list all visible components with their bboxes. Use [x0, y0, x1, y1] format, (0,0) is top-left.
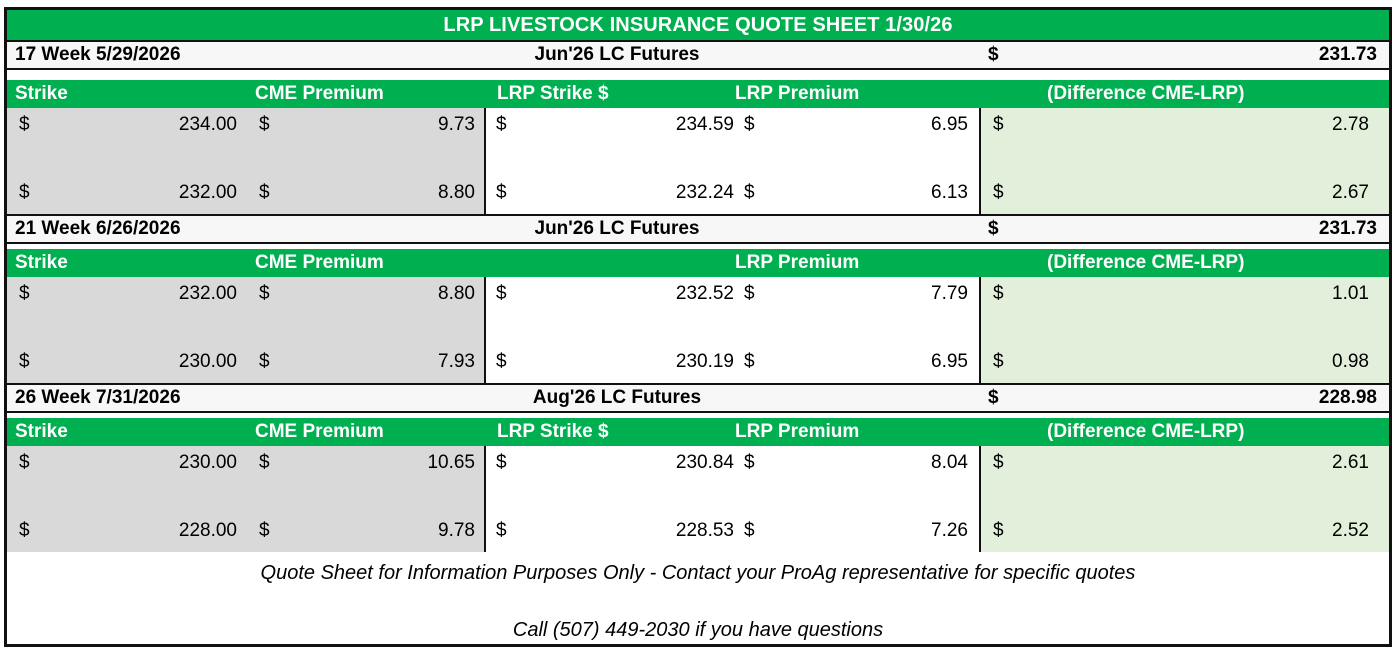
strike-value: 230.00 — [97, 448, 237, 478]
cme-premium-value: 9.73 — [337, 110, 475, 140]
lrp-premium-value: 7.26 — [816, 516, 968, 546]
difference-value: 1.01 — [1131, 279, 1369, 309]
lrp-premium-value: 8.04 — [816, 448, 968, 478]
cme-premium-currency-symbol: $ — [259, 178, 270, 208]
section-info-row: 21 Week 6/26/2026 Jun'26 LC Futures $ 23… — [7, 214, 1389, 244]
section-futures-price: 231.73 — [1319, 44, 1377, 66]
section-term: 26 Week 7/31/2026 — [15, 387, 181, 409]
lrp-strike-currency-symbol: $ — [496, 110, 507, 140]
difference-value: 2.52 — [1131, 516, 1369, 546]
table-row: $ 228.00 $ 9.78 — [7, 516, 484, 550]
table-row: $ 2.61 — [981, 448, 1389, 482]
cme-premium-currency-symbol: $ — [259, 110, 270, 140]
difference-column-group: $ 2.78 $ 2.67 — [981, 108, 1389, 214]
footer-contact: Call (507) 449-2030 if you have question… — [7, 619, 1389, 642]
column-header-lrp-premium: LRP Premium — [735, 421, 859, 443]
strike-currency-symbol: $ — [19, 110, 30, 140]
table-row: $ 234.00 $ 9.73 — [7, 110, 484, 144]
column-header-row: Strike CME Premium LRP Premium (Differen… — [7, 249, 1389, 277]
quote-sheet: LRP LIVESTOCK INSURANCE QUOTE SHEET 1/30… — [0, 0, 1400, 651]
page-title: LRP LIVESTOCK INSURANCE QUOTE SHEET 1/30… — [443, 14, 952, 37]
section-futures-price: 228.98 — [1319, 387, 1377, 409]
table-row: $ 0.98 — [981, 347, 1389, 381]
footer-disclaimer: Quote Sheet for Information Purposes Onl… — [7, 562, 1389, 585]
column-header-strike: Strike — [15, 421, 68, 443]
section-data-block: $ 232.00 $ 8.80 $ 230.00 $ 7.93 $ 232.52… — [7, 277, 1389, 383]
difference-currency-symbol: $ — [993, 516, 1004, 546]
table-row: $ 230.00 $ 7.93 — [7, 347, 484, 381]
lrp-strike-value: 232.52 — [574, 279, 734, 309]
difference-value: 2.78 — [1131, 110, 1369, 140]
table-row: $ 228.53 $ 7.26 — [486, 516, 979, 550]
section-futures-price: 231.73 — [1319, 218, 1377, 240]
cme-column-group: $ 230.00 $ 10.65 $ 228.00 $ 9.78 — [7, 446, 486, 552]
lrp-column-group: $ 234.59 $ 6.95 $ 232.24 $ 6.13 — [486, 108, 981, 214]
difference-currency-symbol: $ — [993, 347, 1004, 377]
lrp-strike-currency-symbol: $ — [496, 347, 507, 377]
cme-premium-currency-symbol: $ — [259, 448, 270, 478]
lrp-strike-value: 230.19 — [574, 347, 734, 377]
lrp-premium-currency-symbol: $ — [744, 110, 755, 140]
lrp-strike-currency-symbol: $ — [496, 448, 507, 478]
table-row: $ 232.52 $ 7.79 — [486, 279, 979, 313]
cme-premium-currency-symbol: $ — [259, 347, 270, 377]
lrp-premium-value: 6.13 — [816, 178, 968, 208]
strike-currency-symbol: $ — [19, 516, 30, 546]
column-header-row: Strike CME Premium LRP Strike $ LRP Prem… — [7, 80, 1389, 108]
section-futures-label: Aug'26 LC Futures — [407, 387, 827, 409]
cme-premium-currency-symbol: $ — [259, 516, 270, 546]
strike-value: 228.00 — [97, 516, 237, 546]
column-header-difference: (Difference CME-LRP) — [1047, 83, 1244, 105]
difference-value: 2.67 — [1131, 178, 1369, 208]
lrp-strike-currency-symbol: $ — [496, 279, 507, 309]
currency-symbol: $ — [988, 44, 999, 66]
strike-currency-symbol: $ — [19, 347, 30, 377]
frame-border-bottom — [4, 644, 1392, 647]
column-header-cme-premium: CME Premium — [255, 421, 384, 443]
section-info-row: 17 Week 5/29/2026 Jun'26 LC Futures $ 23… — [7, 40, 1389, 70]
lrp-strike-currency-symbol: $ — [496, 516, 507, 546]
table-row: $ 230.19 $ 6.95 — [486, 347, 979, 381]
cme-premium-value: 7.93 — [337, 347, 475, 377]
lrp-strike-currency-symbol: $ — [496, 178, 507, 208]
lrp-strike-value: 230.84 — [574, 448, 734, 478]
column-header-cme-premium: CME Premium — [255, 83, 384, 105]
lrp-premium-currency-symbol: $ — [744, 178, 755, 208]
strike-currency-symbol: $ — [19, 448, 30, 478]
frame-border-right — [1389, 7, 1392, 647]
column-header-cme-premium: CME Premium — [255, 252, 384, 274]
difference-column-group: $ 2.61 $ 2.52 — [981, 446, 1389, 552]
cme-premium-value: 8.80 — [337, 279, 475, 309]
lrp-premium-value: 6.95 — [816, 110, 968, 140]
cme-premium-value: 8.80 — [337, 178, 475, 208]
column-header-difference: (Difference CME-LRP) — [1047, 421, 1244, 443]
cme-premium-value: 9.78 — [337, 516, 475, 546]
column-header-lrp-premium: LRP Premium — [735, 252, 859, 274]
strike-value: 232.00 — [97, 279, 237, 309]
sheet-title-bar: LRP LIVESTOCK INSURANCE QUOTE SHEET 1/30… — [7, 10, 1389, 40]
cme-column-group: $ 234.00 $ 9.73 $ 232.00 $ 8.80 — [7, 108, 486, 214]
lrp-premium-value: 7.79 — [816, 279, 968, 309]
section-futures-label: Jun'26 LC Futures — [407, 44, 827, 66]
table-row: $ 230.84 $ 8.04 — [486, 448, 979, 482]
difference-currency-symbol: $ — [993, 178, 1004, 208]
lrp-premium-value: 6.95 — [816, 347, 968, 377]
difference-currency-symbol: $ — [993, 448, 1004, 478]
difference-value: 0.98 — [1131, 347, 1369, 377]
column-header-strike: Strike — [15, 83, 68, 105]
column-header-lrp-premium: LRP Premium — [735, 83, 859, 105]
table-row: $ 232.00 $ 8.80 — [7, 178, 484, 212]
lrp-strike-value: 232.24 — [574, 178, 734, 208]
table-row: $ 234.59 $ 6.95 — [486, 110, 979, 144]
strike-value: 230.00 — [97, 347, 237, 377]
column-header-strike: Strike — [15, 252, 68, 274]
cme-premium-value: 10.65 — [337, 448, 475, 478]
table-row: $ 2.52 — [981, 516, 1389, 550]
difference-value: 2.61 — [1131, 448, 1369, 478]
strike-value: 234.00 — [97, 110, 237, 140]
section-info-row: 26 Week 7/31/2026 Aug'26 LC Futures $ 22… — [7, 383, 1389, 413]
column-header-lrp-strike: LRP Strike $ — [497, 83, 609, 105]
currency-symbol: $ — [988, 387, 999, 409]
strike-currency-symbol: $ — [19, 178, 30, 208]
column-header-row: Strike CME Premium LRP Strike $ LRP Prem… — [7, 418, 1389, 446]
table-row: $ 2.78 — [981, 110, 1389, 144]
section-data-block: $ 230.00 $ 10.65 $ 228.00 $ 9.78 $ 230.8… — [7, 446, 1389, 552]
section-data-block: $ 234.00 $ 9.73 $ 232.00 $ 8.80 $ 234.59… — [7, 108, 1389, 214]
cme-column-group: $ 232.00 $ 8.80 $ 230.00 $ 7.93 — [7, 277, 486, 383]
strike-value: 232.00 — [97, 178, 237, 208]
column-header-lrp-strike: LRP Strike $ — [497, 421, 609, 443]
table-row: $ 232.00 $ 8.80 — [7, 279, 484, 313]
table-row: $ 1.01 — [981, 279, 1389, 313]
column-header-difference: (Difference CME-LRP) — [1047, 252, 1244, 274]
difference-currency-symbol: $ — [993, 279, 1004, 309]
currency-symbol: $ — [988, 218, 999, 240]
difference-currency-symbol: $ — [993, 110, 1004, 140]
lrp-premium-currency-symbol: $ — [744, 516, 755, 546]
strike-currency-symbol: $ — [19, 279, 30, 309]
section-term: 17 Week 5/29/2026 — [15, 44, 181, 66]
cme-premium-currency-symbol: $ — [259, 279, 270, 309]
difference-column-group: $ 1.01 $ 0.98 — [981, 277, 1389, 383]
lrp-strike-value: 234.59 — [574, 110, 734, 140]
lrp-column-group: $ 230.84 $ 8.04 $ 228.53 $ 7.26 — [486, 446, 981, 552]
lrp-strike-value: 228.53 — [574, 516, 734, 546]
table-row: $ 230.00 $ 10.65 — [7, 448, 484, 482]
lrp-premium-currency-symbol: $ — [744, 448, 755, 478]
table-row: $ 232.24 $ 6.13 — [486, 178, 979, 212]
lrp-premium-currency-symbol: $ — [744, 279, 755, 309]
lrp-column-group: $ 232.52 $ 7.79 $ 230.19 $ 6.95 — [486, 277, 981, 383]
table-row: $ 2.67 — [981, 178, 1389, 212]
section-term: 21 Week 6/26/2026 — [15, 218, 181, 240]
section-futures-label: Jun'26 LC Futures — [407, 218, 827, 240]
footer: Quote Sheet for Information Purposes Onl… — [7, 552, 1389, 644]
lrp-premium-currency-symbol: $ — [744, 347, 755, 377]
